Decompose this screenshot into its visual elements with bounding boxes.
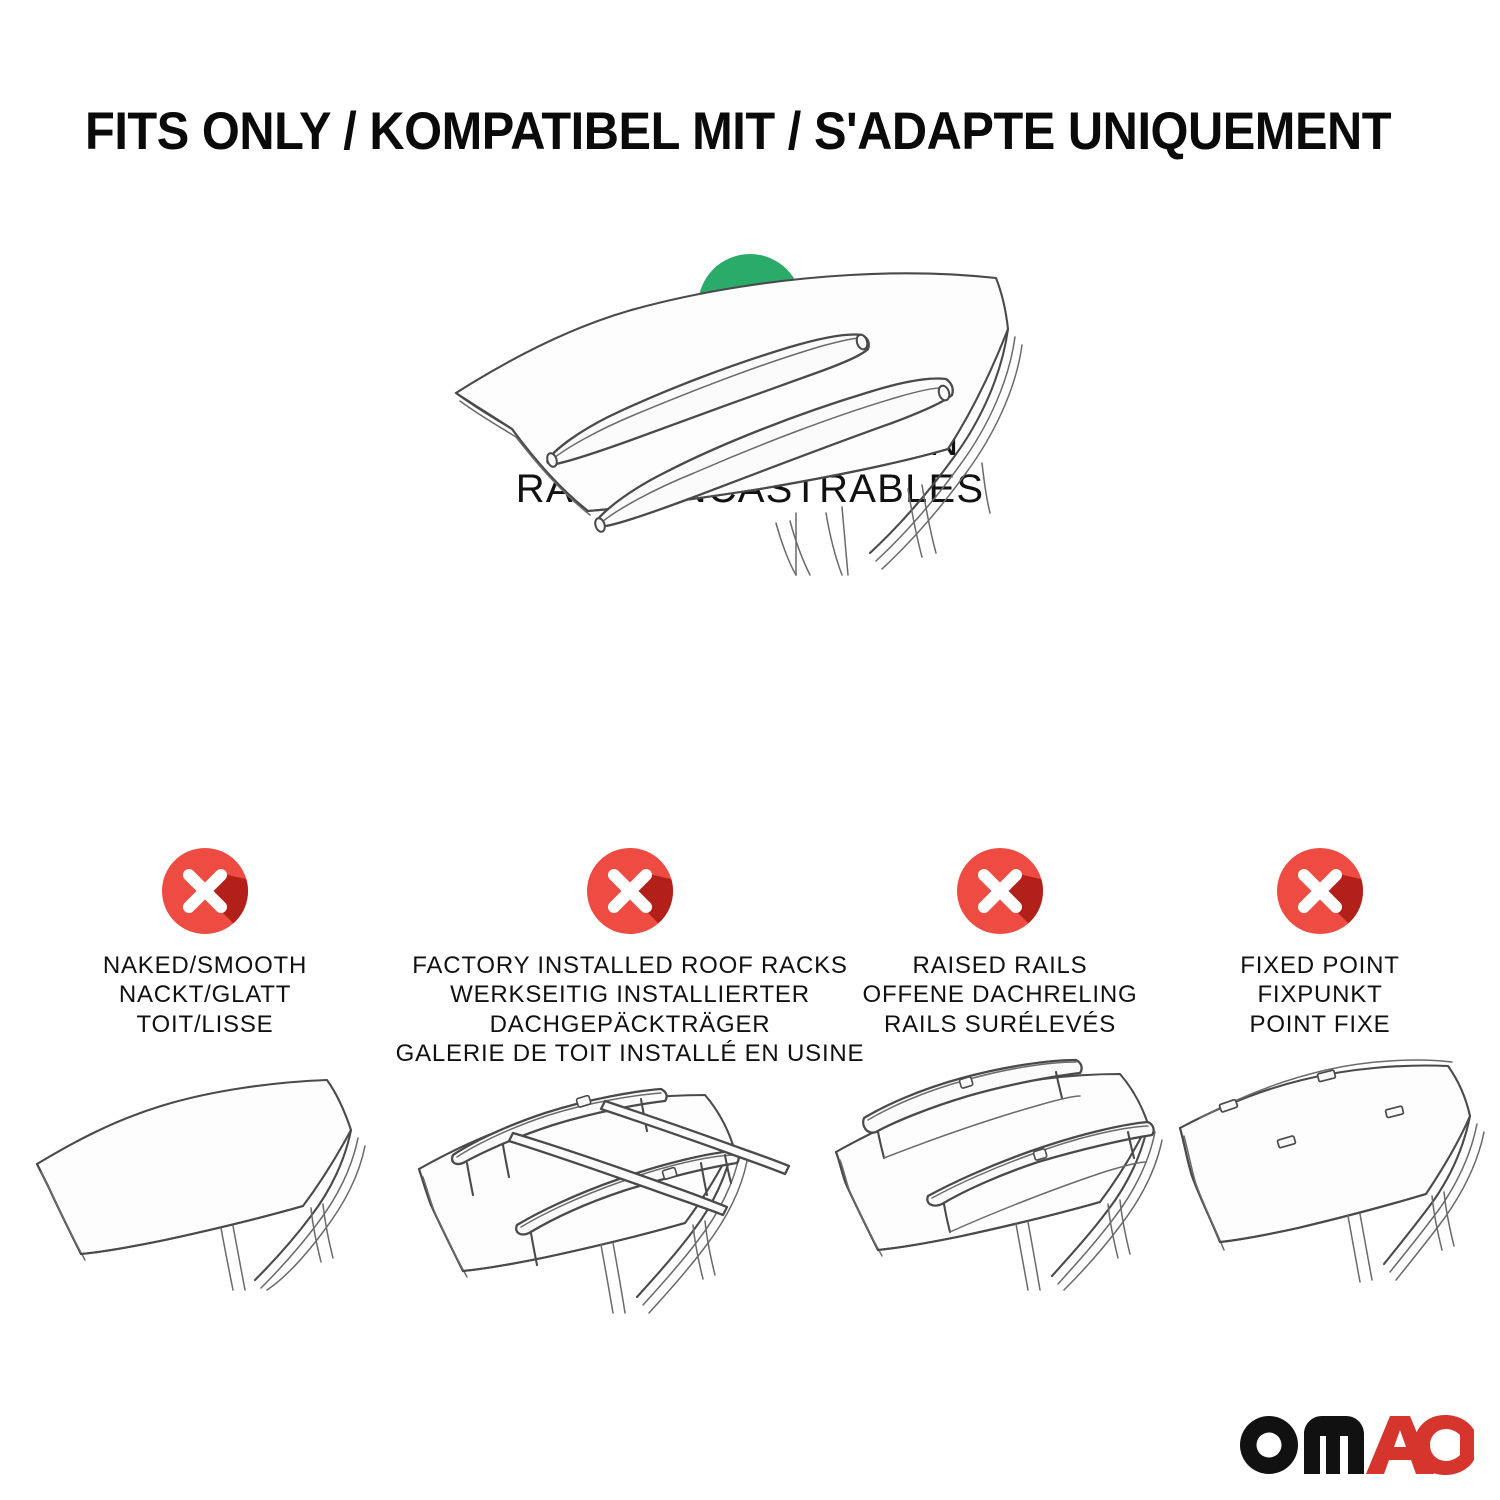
label-line-3: POINT FIXE [1175, 1010, 1465, 1039]
incompatible-section: NAKED/SMOOTH NACKT/GLATT TOIT/LISSE [0, 845, 1500, 1145]
red-x-circle-icon [584, 845, 676, 937]
incompatible-item-label: FACTORY INSTALLED ROOF RACKS WERKSEITIG … [395, 951, 865, 1068]
red-x-circle-icon [159, 845, 251, 937]
incompatible-item-naked-smooth: NAKED/SMOOTH NACKT/GLATT TOIT/LISSE [35, 845, 375, 1039]
red-x-circle-icon [1274, 845, 1366, 937]
label-line-1: RAISED RAILS [830, 951, 1170, 980]
red-x-circle-icon [954, 845, 1046, 937]
label-line-1: FACTORY INSTALLED ROOF RACKS [395, 951, 865, 980]
label-line-1: NAKED/SMOOTH [35, 951, 375, 980]
compatibility-infographic: FITS ONLY / KOMPATIBEL MIT / S'ADAPTE UN… [0, 0, 1500, 1500]
label-line-3: TOIT/LISSE [35, 1010, 375, 1039]
label-line-2: NACKT/GLATT [35, 980, 375, 1009]
car-roof-factory-racks-illustration [405, 1083, 825, 1313]
car-roof-flush-rails-illustration [430, 245, 1070, 575]
label-line-4: GALERIE DE TOIT INSTALLÉ EN USINE [395, 1039, 865, 1068]
incompatible-item-raised-rails: RAISED RAILS OFFENE DACHRELING RAILS SUR… [830, 845, 1170, 1039]
car-roof-fixed-point-illustration [1170, 1060, 1500, 1290]
incompatible-item-factory-installed-roof-racks: FACTORY INSTALLED ROOF RACKS WERKSEITIG … [395, 845, 865, 1068]
page-title: FITS ONLY / KOMPATIBEL MIT / S'ADAPTE UN… [85, 104, 1318, 160]
label-line-2: OFFENE DACHRELING [830, 980, 1170, 1009]
incompatible-item-fixed-point: FIXED POINT FIXPUNKT POINT FIXE [1175, 845, 1465, 1039]
label-line-2: FIXPUNKT [1175, 980, 1465, 1009]
incompatible-item-label: RAISED RAILS OFFENE DACHRELING RAILS SUR… [830, 951, 1170, 1039]
label-line-3: DACHGEPÄCKTRÄGER [395, 1010, 865, 1039]
car-roof-naked-smooth-illustration [25, 1060, 415, 1290]
label-line-2: WERKSEITIG INSTALLIERTER [395, 980, 865, 1009]
incompatible-item-label: NAKED/SMOOTH NACKT/GLATT TOIT/LISSE [35, 951, 375, 1039]
car-roof-raised-rails-illustration [820, 1060, 1220, 1290]
incompatible-item-label: FIXED POINT FIXPUNKT POINT FIXE [1175, 951, 1465, 1039]
label-line-3: RAILS SURÉLEVÉS [830, 1010, 1170, 1039]
label-line-1: FIXED POINT [1175, 951, 1465, 980]
omac-logo [1238, 1412, 1474, 1478]
